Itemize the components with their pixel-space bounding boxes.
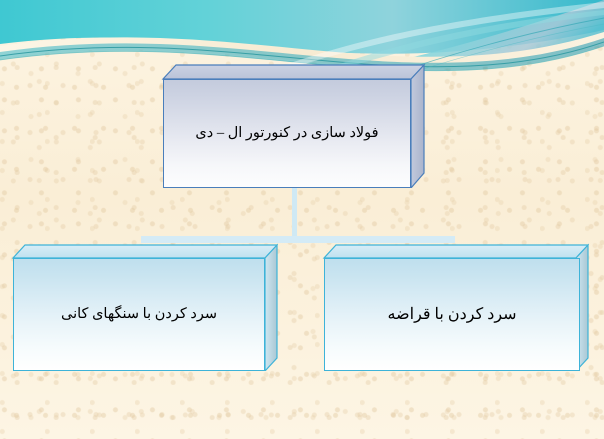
- connector-vertical: [292, 186, 297, 238]
- box-front-face: سرد کردن با قراضه: [324, 258, 580, 371]
- diagram-node-cooling-scrap[interactable]: سرد کردن با قراضه: [317, 243, 589, 371]
- diagram-node-title[interactable]: فولاد سازی در کنورتور ال – دی: [155, 63, 427, 188]
- box-front-face: سرد کردن با سنگهای کانی: [13, 258, 265, 371]
- box-top-face: [324, 245, 588, 258]
- box-top-face: [13, 245, 277, 258]
- connector-horizontal: [141, 236, 455, 243]
- box-top-face: [163, 65, 424, 79]
- presentation-slide: فولاد سازی در کنورتور ال – دی سرد کردن ب…: [0, 0, 604, 439]
- diagram-node-title-label: فولاد سازی در کنورتور ال – دی: [164, 124, 410, 144]
- box-side-face: [411, 65, 424, 188]
- box-side-face: [265, 245, 277, 371]
- diagram-node-cooling-scrap-label: سرد کردن با قراضه: [325, 304, 579, 326]
- diagram-node-cooling-ore[interactable]: سرد کردن با سنگهای کانی: [6, 243, 278, 371]
- box-front-face: فولاد سازی در کنورتور ال – دی: [163, 79, 411, 188]
- diagram-node-cooling-ore-label: سرد کردن با سنگهای کانی: [14, 305, 264, 325]
